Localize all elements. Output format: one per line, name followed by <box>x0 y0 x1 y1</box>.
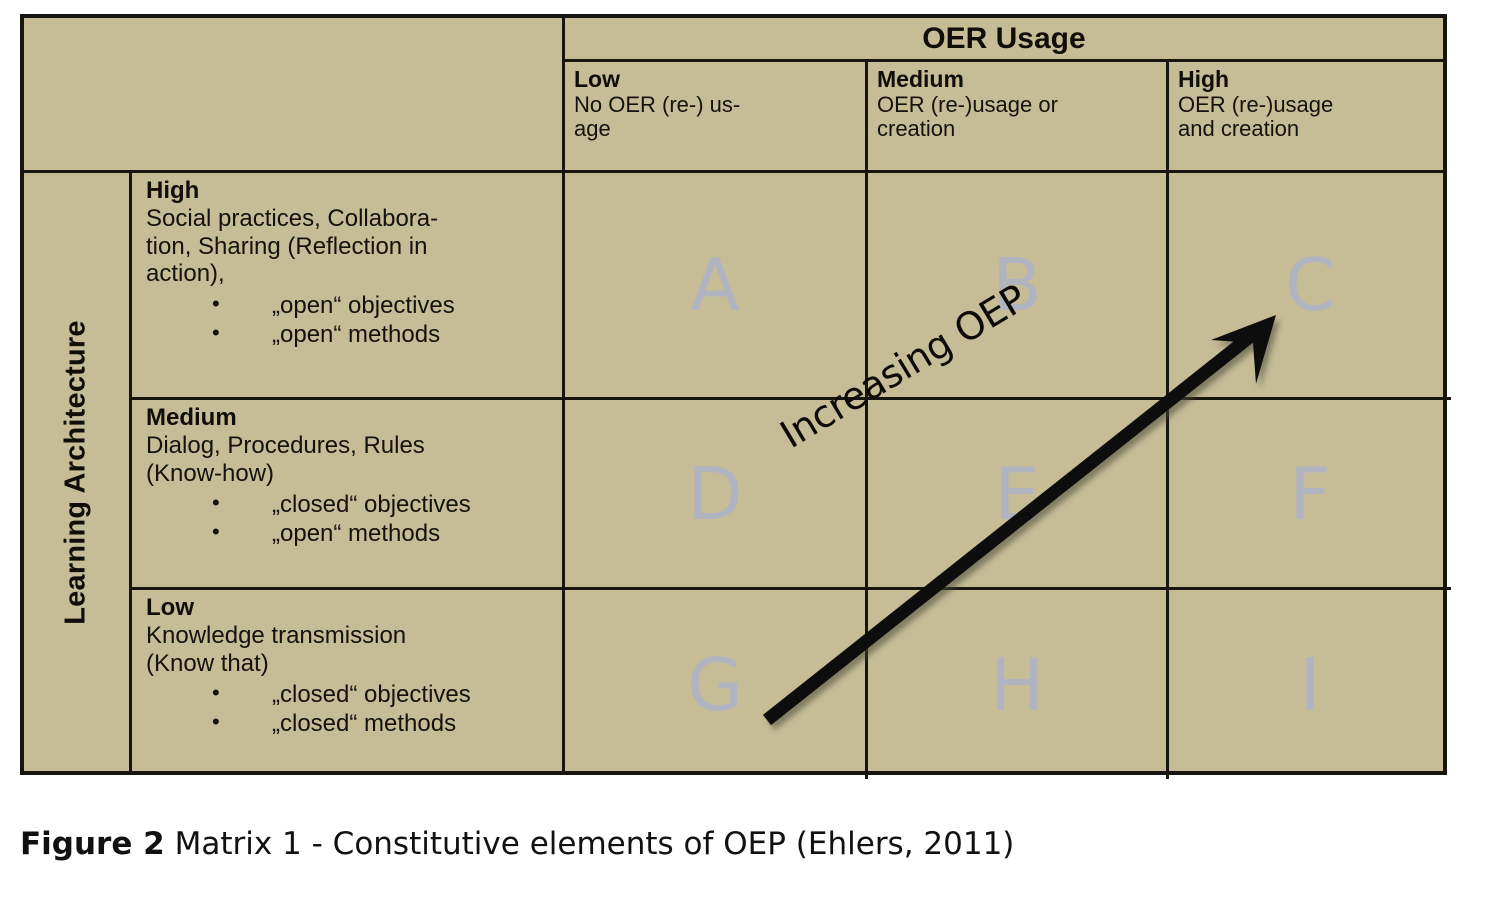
row-axis-title-cell: Learning Architecture <box>24 173 132 771</box>
matrix-cell-letter: B <box>992 249 1041 321</box>
oep-matrix-table: Learning Architecture OER Usage Low No O… <box>20 14 1447 775</box>
matrix-cell-b: B <box>868 173 1169 400</box>
row-header-high: High Social practices, Collabora- tion, … <box>132 173 562 400</box>
matrix-cell-d: D <box>565 400 868 590</box>
list-item: „open“ methods <box>146 321 558 349</box>
corner-rowhead <box>132 18 565 173</box>
figure-caption: Figure 2 Matrix 1 - Constitutive element… <box>20 826 1014 862</box>
row-header-low: Low Knowledge transmission (Know that) „… <box>132 590 562 779</box>
corner-top-left <box>24 18 132 173</box>
column-header-low: Low No OER (re-) us- age <box>565 62 868 170</box>
matrix-cell-a: A <box>565 173 868 400</box>
column-header-medium-level: Medium <box>877 67 1160 92</box>
row-header-low-description: Knowledge transmission (Know that) <box>146 622 558 678</box>
row-header-high-description: Social practices, Collabora- tion, Shari… <box>146 205 558 288</box>
matrix-cell-e: E <box>868 400 1169 590</box>
matrix-cell-letter: C <box>1285 249 1335 321</box>
matrix-cell-letter: E <box>994 458 1040 530</box>
row-header-low-level: Low <box>146 594 558 622</box>
column-header-high-description: OER (re-)usage and creation <box>1178 93 1445 141</box>
column-header-medium-description: OER (re-)usage or creation <box>877 93 1160 141</box>
list-item: „closed“ methods <box>146 710 558 738</box>
list-item: „closed“ objectives <box>146 681 558 709</box>
matrix-cell-c: C <box>1169 173 1451 400</box>
list-item: „open“ objectives <box>146 292 558 320</box>
matrix-cell-i: I <box>1169 590 1451 779</box>
row-header-medium-bullets: „closed“ objectives „open“ methods <box>146 491 558 548</box>
matrix-cell-f: F <box>1169 400 1451 590</box>
column-header-high-level: High <box>1178 67 1445 92</box>
row-header-high-level: High <box>146 177 558 205</box>
figure-caption-text: Matrix 1 - Constitutive elements of OEP … <box>165 826 1015 862</box>
row-headers: High Social practices, Collabora- tion, … <box>132 173 565 771</box>
matrix-cell-g: G <box>565 590 868 779</box>
list-item: „open“ methods <box>146 520 558 548</box>
matrix-cell-letter: G <box>687 649 743 721</box>
matrix-cell-h: H <box>868 590 1169 779</box>
row-header-low-bullets: „closed“ objectives „closed“ methods <box>146 681 558 738</box>
column-header-medium: Medium OER (re-)usage or creation <box>868 62 1169 170</box>
list-item: „closed“ objectives <box>146 491 558 519</box>
column-axis-title: OER Usage <box>565 18 1443 62</box>
matrix-cell-letter: A <box>690 249 739 321</box>
column-headers: Low No OER (re-) us- age Medium OER (re-… <box>565 62 1443 173</box>
matrix-cell-letter: D <box>687 458 742 530</box>
row-header-high-bullets: „open“ objectives „open“ methods <box>146 292 558 349</box>
row-header-medium-description: Dialog, Procedures, Rules (Know-how) <box>146 432 558 488</box>
column-header-high: High OER (re-)usage and creation <box>1169 62 1451 170</box>
matrix-cells: A B C D E F G H I <box>565 173 1443 771</box>
figure-oep-matrix: Learning Architecture OER Usage Low No O… <box>0 0 1488 904</box>
figure-caption-label: Figure 2 <box>20 826 165 862</box>
row-header-medium-level: Medium <box>146 404 558 432</box>
matrix-cell-letter: F <box>1289 458 1330 530</box>
column-header-low-description: No OER (re-) us- age <box>574 93 859 141</box>
matrix-cell-letter: I <box>1299 649 1320 721</box>
row-header-medium: Medium Dialog, Procedures, Rules (Know-h… <box>132 400 562 590</box>
row-axis-title: Learning Architecture <box>60 320 93 624</box>
column-header-low-level: Low <box>574 67 859 92</box>
matrix-cell-letter: H <box>990 649 1044 721</box>
